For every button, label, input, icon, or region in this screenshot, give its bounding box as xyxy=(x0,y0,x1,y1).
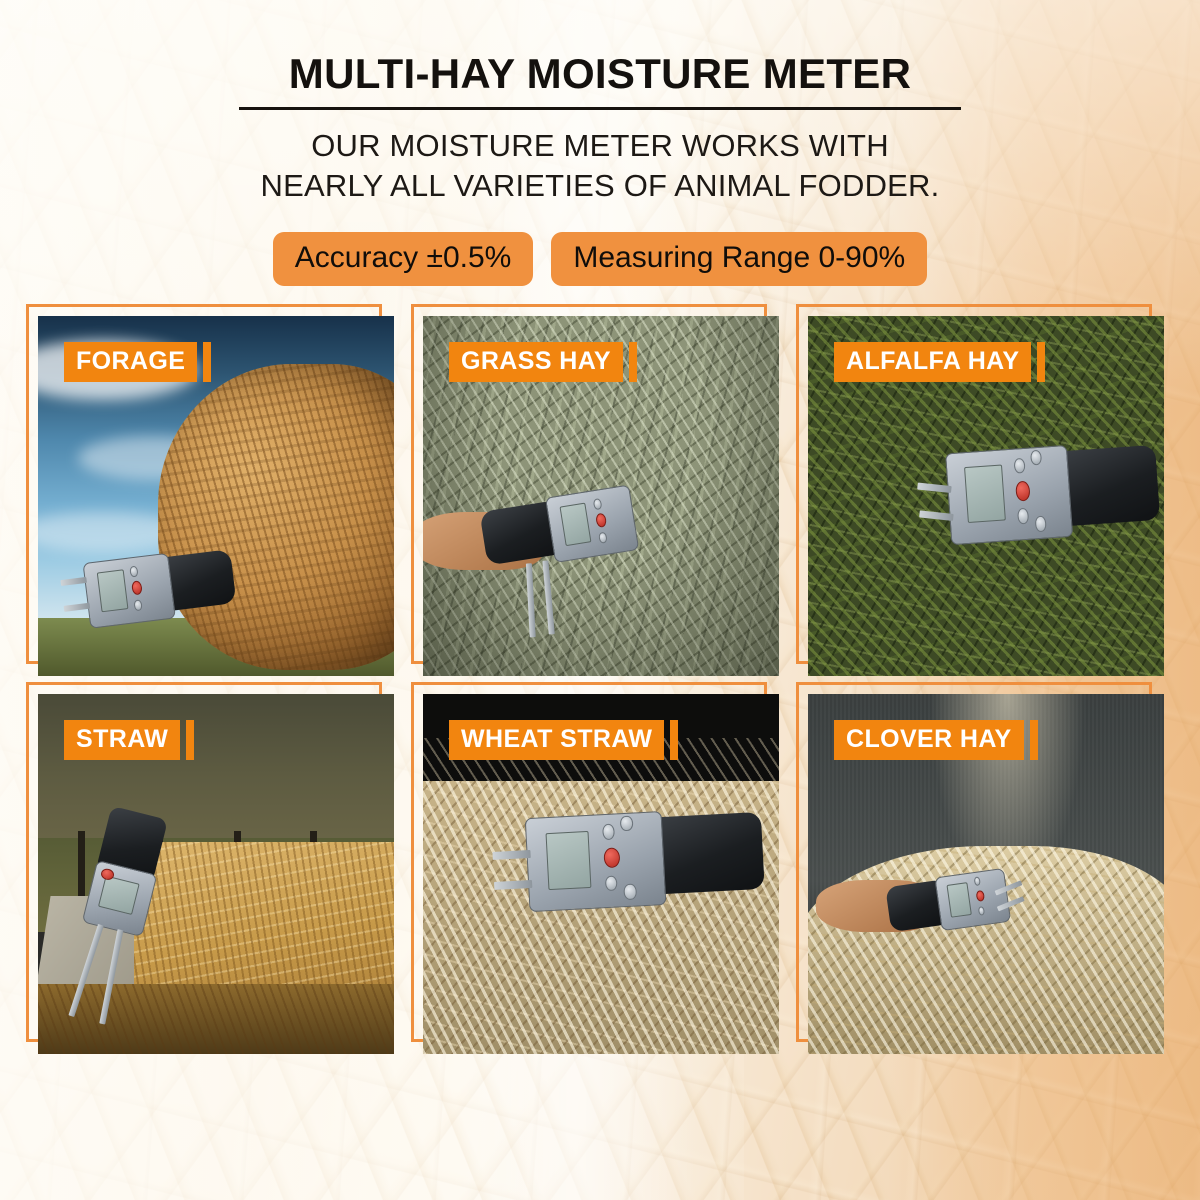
device-lcd-screen xyxy=(97,876,139,915)
badge-accuracy: Accuracy ±0.5% xyxy=(273,232,534,286)
power-button-icon xyxy=(131,581,143,596)
tile-forage[interactable]: FORAGE xyxy=(38,316,394,676)
tile-label-tick xyxy=(186,720,194,760)
device-lcd-screen xyxy=(97,570,128,613)
spec-badges: Accuracy ±0.5% Measuring Range 0-90% xyxy=(0,232,1200,286)
device-head xyxy=(945,445,1073,545)
moisture-meter-device xyxy=(945,439,1161,545)
device-lcd-screen xyxy=(545,831,591,890)
device-button xyxy=(593,498,602,510)
power-button-icon xyxy=(596,513,608,528)
header: MULTI-HAY MOISTURE METER OUR MOISTURE ME… xyxy=(0,0,1200,205)
device-button xyxy=(1030,450,1042,466)
tile-label-tick xyxy=(629,342,637,382)
moisture-meter-device xyxy=(525,806,766,912)
subtitle: OUR MOISTURE METER WORKS WITH NEARLY ALL… xyxy=(0,126,1200,205)
subtitle-line-1: OUR MOISTURE METER WORKS WITH xyxy=(0,126,1200,166)
device-button xyxy=(1035,516,1047,532)
tile-wheat-straw[interactable]: WHEAT STRAW xyxy=(423,694,779,1054)
device-button xyxy=(599,532,608,544)
device-button xyxy=(1014,458,1026,474)
badge-measuring-range: Measuring Range 0-90% xyxy=(551,232,927,286)
tile-label-text: FORAGE xyxy=(64,342,197,382)
device-lcd-screen xyxy=(964,465,1006,523)
device-button xyxy=(624,884,637,900)
tile-alfalfa-hay[interactable]: ALFALFA HAY xyxy=(808,316,1164,676)
device-lcd-screen xyxy=(559,503,591,546)
device-button xyxy=(1017,509,1029,525)
device-button xyxy=(974,877,981,887)
tile-label-grass-hay: GRASS HAY xyxy=(449,342,637,382)
tile-straw[interactable]: STRAW xyxy=(38,694,394,1054)
tile-label-text: STRAW xyxy=(64,720,180,760)
straw-ground xyxy=(38,984,394,1054)
device-lcd-screen xyxy=(946,883,972,918)
tile-label-tick xyxy=(670,720,678,760)
page-title: MULTI-HAY MOISTURE METER xyxy=(0,52,1200,96)
device-head xyxy=(83,553,176,629)
tile-label-text: WHEAT STRAW xyxy=(449,720,664,760)
round-hay-bale xyxy=(158,364,394,670)
tile-label-clover-hay: CLOVER HAY xyxy=(834,720,1038,760)
device-head xyxy=(545,485,639,564)
device-button xyxy=(620,816,633,832)
tile-label-text: GRASS HAY xyxy=(449,342,623,382)
device-button xyxy=(134,600,143,612)
device-button xyxy=(978,907,985,917)
tile-label-tick xyxy=(1037,342,1045,382)
device-button xyxy=(604,876,617,892)
tile-label-tick xyxy=(1030,720,1038,760)
tile-label-straw: STRAW xyxy=(64,720,194,760)
straw-field-background xyxy=(38,694,394,852)
device-head xyxy=(82,860,158,937)
device-head xyxy=(525,812,667,913)
hay-type-grid: FORAGE xyxy=(27,316,1173,1054)
tile-label-alfalfa-hay: ALFALFA HAY xyxy=(834,342,1045,382)
tile-label-text: ALFALFA HAY xyxy=(834,342,1031,382)
tile-label-wheat-straw: WHEAT STRAW xyxy=(449,720,678,760)
power-button-icon xyxy=(976,890,986,902)
tile-grass-hay[interactable]: GRASS HAY xyxy=(423,316,779,676)
tile-label-forage: FORAGE xyxy=(64,342,211,382)
device-button xyxy=(130,566,139,578)
device-button xyxy=(602,824,615,840)
power-button-icon xyxy=(1015,481,1031,502)
tile-clover-hay[interactable]: CLOVER HAY xyxy=(808,694,1164,1054)
tile-label-text: CLOVER HAY xyxy=(834,720,1024,760)
power-button-icon xyxy=(603,848,620,869)
title-underline xyxy=(239,107,961,110)
tile-label-tick xyxy=(203,342,211,382)
subtitle-line-2: NEARLY ALL VARIETIES OF ANIMAL FODDER. xyxy=(0,166,1200,206)
device-head xyxy=(935,868,1011,931)
